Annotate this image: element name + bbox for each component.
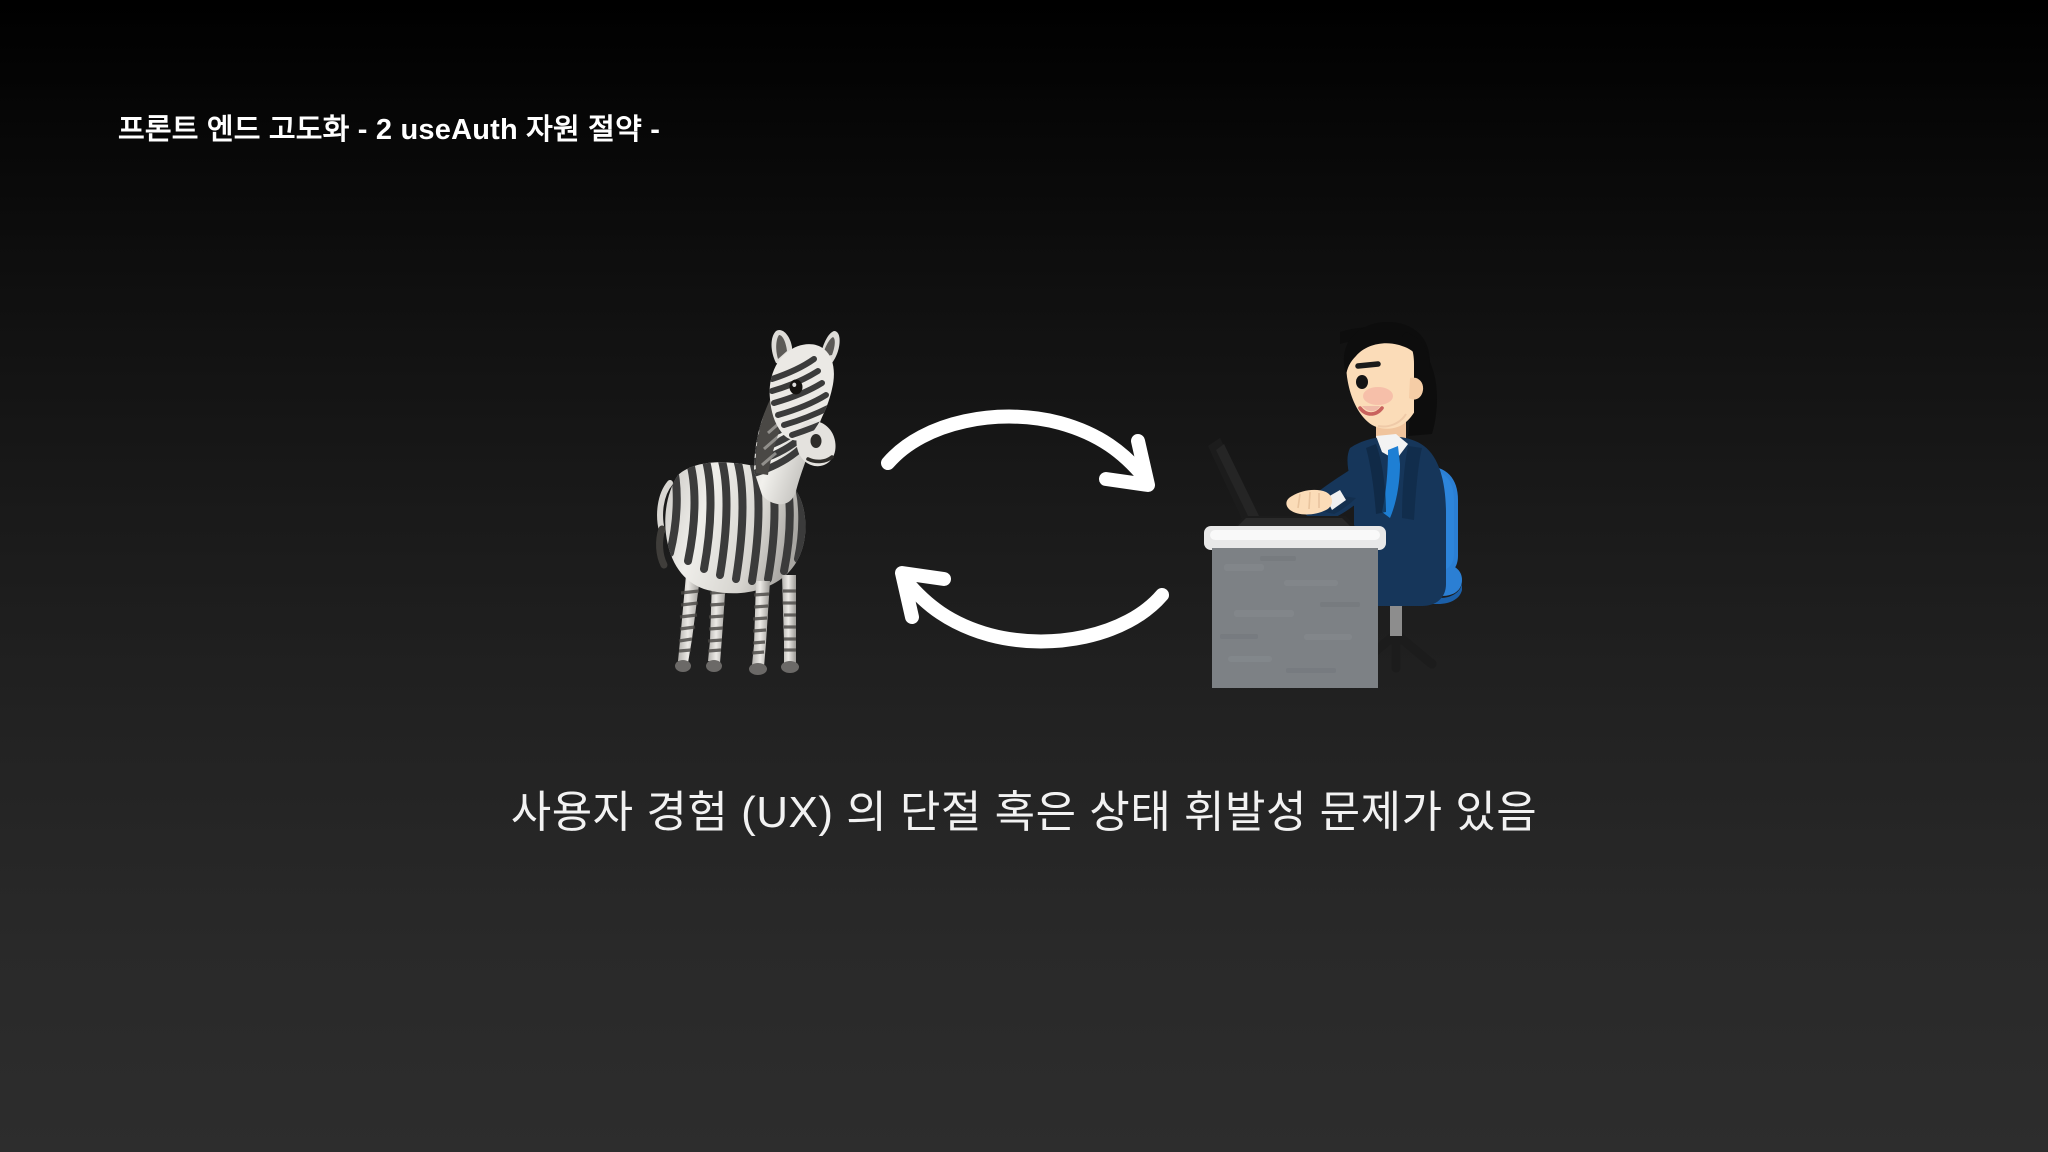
zebra-icon bbox=[650, 325, 840, 695]
slide-caption: 사용자 경험 (UX) 의 단절 혹은 상태 휘발성 문제가 있음 bbox=[0, 776, 2048, 840]
zebra-illustration bbox=[650, 325, 840, 695]
arrow-bottom-shaft bbox=[906, 581, 1162, 641]
slide-root: 프론트 엔드 고도화 - 2 useAuth 자원 절약 - bbox=[0, 0, 2048, 1152]
arrow-top-shaft bbox=[888, 417, 1144, 477]
sync-arrows bbox=[860, 395, 1190, 665]
page-title: 프론트 엔드 고도화 - 2 useAuth 자원 절약 - bbox=[118, 112, 660, 148]
illustration-stage bbox=[0, 300, 2048, 700]
zebra-front-legs bbox=[749, 575, 799, 675]
person-at-desk-illustration bbox=[1200, 318, 1500, 698]
eye bbox=[1356, 375, 1368, 389]
cheek-blush bbox=[1363, 387, 1393, 405]
eyebrow bbox=[1358, 364, 1378, 366]
bidirectional-arrows-icon bbox=[860, 395, 1190, 665]
businessman-at-desk-icon bbox=[1200, 318, 1500, 698]
desk bbox=[1204, 526, 1386, 688]
